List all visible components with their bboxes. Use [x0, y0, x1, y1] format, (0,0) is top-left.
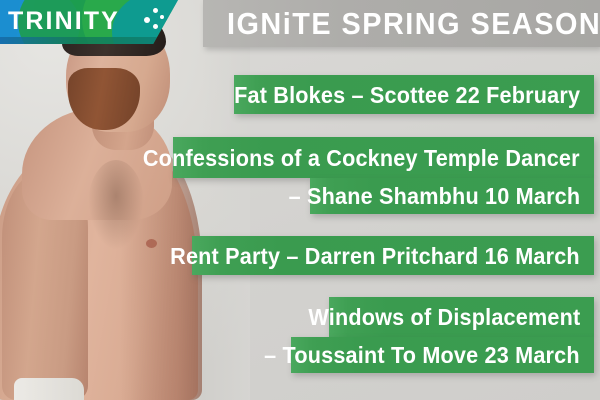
- event-listing-text: Confessions of a Cockney Temple Dancer: [143, 146, 580, 170]
- figure-chest-point: [146, 239, 157, 248]
- logo-base-bar: [0, 37, 178, 44]
- event-listing-2-line-2[interactable]: – Shane Shambhu 10 March: [310, 178, 594, 214]
- event-listing-text: – Toussaint To Move 23 March: [264, 343, 580, 367]
- logo-wordmark: TRINITY: [8, 7, 120, 35]
- trinity-logo[interactable]: TRINITY: [0, 0, 178, 44]
- event-listing-2-line-1[interactable]: Confessions of a Cockney Temple Dancer: [173, 137, 594, 178]
- event-listing-4-line-2[interactable]: – Toussaint To Move 23 March: [291, 337, 594, 373]
- page-title: IGNiTE SPRING SEASON: [227, 7, 600, 41]
- event-listing-3[interactable]: Rent Party – Darren Pritchard 16 March: [192, 236, 594, 275]
- photo-edge-fade: [202, 0, 250, 400]
- event-listing-text: Rent Party – Darren Pritchard 16 March: [170, 244, 580, 268]
- event-listing-1[interactable]: Fat Blokes – Scottee 22 February: [234, 75, 594, 114]
- event-listing-text: – Shane Shambhu 10 March: [288, 184, 580, 208]
- event-listing-4-line-1[interactable]: Windows of Displacement: [329, 297, 594, 337]
- season-poster: TRINITY IGNiTE SPRING SEASON Fat Blokes …: [0, 0, 600, 400]
- performer-photo: [0, 0, 250, 400]
- logo-dot-3: [144, 17, 150, 23]
- logo-dot-1: [153, 8, 158, 13]
- logo-dot-2: [160, 15, 164, 19]
- headline-band: IGNiTE SPRING SEASON: [203, 0, 600, 47]
- figure-chest-detail: [88, 160, 144, 250]
- figure-shorts: [14, 378, 84, 400]
- logo-dot-4: [153, 24, 158, 29]
- event-listing-text: Windows of Displacement: [308, 305, 580, 329]
- event-listing-text: Fat Blokes – Scottee 22 February: [234, 83, 580, 107]
